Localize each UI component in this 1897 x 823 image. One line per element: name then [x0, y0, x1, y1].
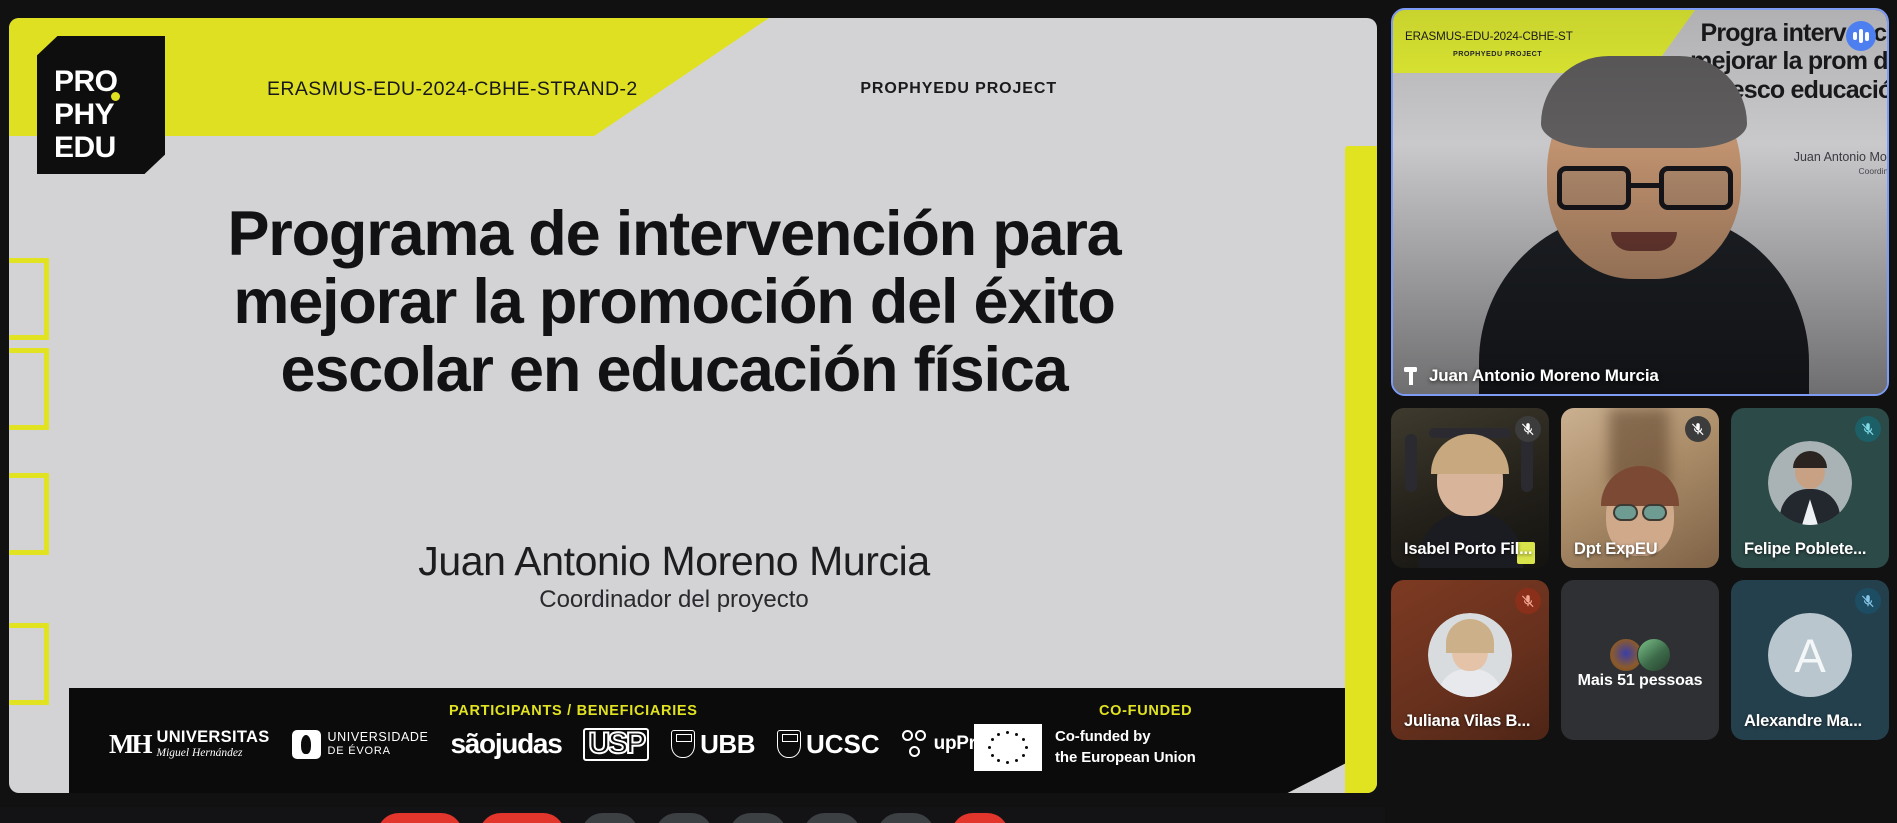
participant-thumbnail-grid: Isabel Porto Fil... Dpt ExpEU: [1391, 408, 1889, 740]
avatar: [1428, 613, 1512, 697]
ucsc-label: UCSC: [806, 729, 880, 760]
participant-tile-isabel[interactable]: Isabel Porto Fil...: [1391, 408, 1549, 568]
participant-tile-alexandre[interactable]: A Alexandre Ma...: [1731, 580, 1889, 740]
tile-vignette: [1393, 10, 1887, 394]
mic-off-icon: [1515, 416, 1541, 442]
evora-line-1: UNIVERSIDADE: [328, 731, 429, 745]
participant-name: Juliana Vilas B...: [1404, 712, 1530, 731]
overflow-avatar-stack: [1609, 638, 1671, 672]
participant-name: Isabel Porto Fil...: [1404, 540, 1532, 559]
decorative-accent-bar: [1345, 146, 1377, 793]
umh-monogram-icon: MH: [109, 731, 150, 758]
avatar-photo: [1768, 441, 1852, 525]
more-participants-label: Mais 51 pessoas: [1561, 672, 1719, 690]
evora-shield-icon: [292, 730, 321, 759]
presentation-stage[interactable]: ERASMUS-EDU-2024-CBHE-STRAND-2 PROPHYEDU…: [0, 0, 1385, 823]
participant-rail: ERASMUS-EDU-2024-CBHE-ST PROPHYEDU PROJE…: [1385, 0, 1897, 823]
avatar: A: [1768, 613, 1852, 697]
logo-line-2: PHY: [54, 100, 114, 130]
avatar: [1768, 441, 1852, 525]
more-participants-tile[interactable]: Mais 51 pessoas: [1561, 580, 1719, 740]
ubb-label: UBB: [700, 729, 755, 760]
decorative-outline-box: [9, 473, 49, 555]
leave-call-button[interactable]: [951, 813, 1009, 823]
umh-line-2: Miguel Hernández: [157, 747, 270, 760]
present-now-button[interactable]: [729, 813, 787, 823]
end-call-button[interactable]: [377, 813, 463, 823]
logo-accent-dot: [111, 92, 120, 101]
meet-window: ERASMUS-EDU-2024-CBHE-STRAND-2 PROPHYEDU…: [0, 0, 1897, 823]
activities-button[interactable]: [803, 813, 861, 823]
participant-tile-juliana-vilas[interactable]: Juliana Vilas B...: [1391, 580, 1549, 740]
cofunded-label: CO-FUNDED: [1099, 703, 1192, 719]
slide-author: Juan Antonio Moreno Murcia: [129, 538, 1219, 585]
logo-ubb: UBB: [671, 729, 755, 760]
pin-icon[interactable]: [1403, 367, 1418, 385]
project-code-label: ERASMUS-EDU-2024-CBHE-STRAND-2: [267, 78, 638, 101]
project-name-label: PROPHYEDU PROJECT: [860, 80, 1057, 98]
raise-hand-button[interactable]: [479, 813, 565, 823]
logo-universidade-de-evora: UNIVERSIDADE DE ÉVORA: [292, 730, 429, 759]
avatar-initial: A: [1768, 613, 1852, 697]
slide-title: Programa de intervención para mejorar la…: [129, 200, 1219, 404]
eu-flag-icon: [974, 724, 1042, 771]
logo-line-3: EDU: [54, 133, 116, 163]
participant-tile-felipe-poblete[interactable]: Felipe Poblete...: [1731, 408, 1889, 568]
shared-slide: ERASMUS-EDU-2024-CBHE-STRAND-2 PROPHYEDU…: [9, 18, 1377, 793]
decorative-outline-box: [9, 623, 49, 705]
decorative-outline-box: [9, 348, 49, 430]
participant-name: Dpt ExpEU: [1574, 540, 1657, 559]
eu-caption-line-2: the European Union: [1055, 748, 1196, 768]
participant-name: Alexandre Ma...: [1744, 712, 1862, 731]
call-controls-bar[interactable]: [0, 807, 1385, 823]
main-speaker-name: Juan Antonio Moreno Murcia: [1429, 366, 1659, 386]
mic-off-icon: [1855, 416, 1881, 442]
mic-off-icon: [1855, 588, 1881, 614]
overflow-avatar: [1637, 638, 1671, 672]
logo-usp: USP: [583, 728, 649, 761]
emoji-button[interactable]: [655, 813, 713, 823]
slide-footer: PARTICIPANTS / BENEFICIARIES CO-FUNDED M…: [69, 688, 1345, 793]
main-speaker-tile[interactable]: ERASMUS-EDU-2024-CBHE-ST PROPHYEDU PROJE…: [1391, 8, 1889, 396]
logo-ucsc: UCSC: [777, 729, 880, 760]
slide-author-role: Coordinador del proyecto: [129, 586, 1219, 614]
umh-line-1: UNIVERSITAS: [157, 729, 270, 746]
eu-cofunding-block: Co-funded by the European Union: [974, 724, 1196, 771]
logo-sao-judas: sãojudas: [450, 728, 561, 760]
evora-line-2: DE ÉVORA: [328, 745, 429, 757]
participant-tile-dpt-expeu[interactable]: Dpt ExpEU: [1561, 408, 1719, 568]
logo-line-1: PRO: [54, 67, 118, 97]
more-options-button[interactable]: [877, 813, 935, 823]
avatar-photo: [1428, 613, 1512, 697]
audio-activity-icon: [1846, 21, 1876, 51]
eu-caption-line-1: Co-funded by: [1055, 727, 1196, 747]
ubb-crest-icon: [671, 730, 695, 758]
captions-button[interactable]: [581, 813, 639, 823]
participant-name: Felipe Poblete...: [1744, 540, 1866, 559]
partner-logo-row: MH UNIVERSITAS Miguel Hernández UNIVERSI…: [109, 728, 1019, 761]
main-speaker-badge: Juan Antonio Moreno Murcia: [1403, 366, 1659, 386]
up-project-glyph-icon: [902, 730, 928, 758]
participants-label: PARTICIPANTS / BENEFICIARIES: [449, 703, 698, 719]
decorative-outline-box: [9, 258, 49, 340]
mic-off-icon: [1685, 416, 1711, 442]
logo-universitas-miguel-hernandez: MH UNIVERSITAS Miguel Hernández: [109, 729, 270, 759]
prophyedu-logo: PRO PHY EDU: [37, 36, 165, 174]
mic-off-icon: [1515, 588, 1541, 614]
ucsc-crest-icon: [777, 730, 801, 758]
